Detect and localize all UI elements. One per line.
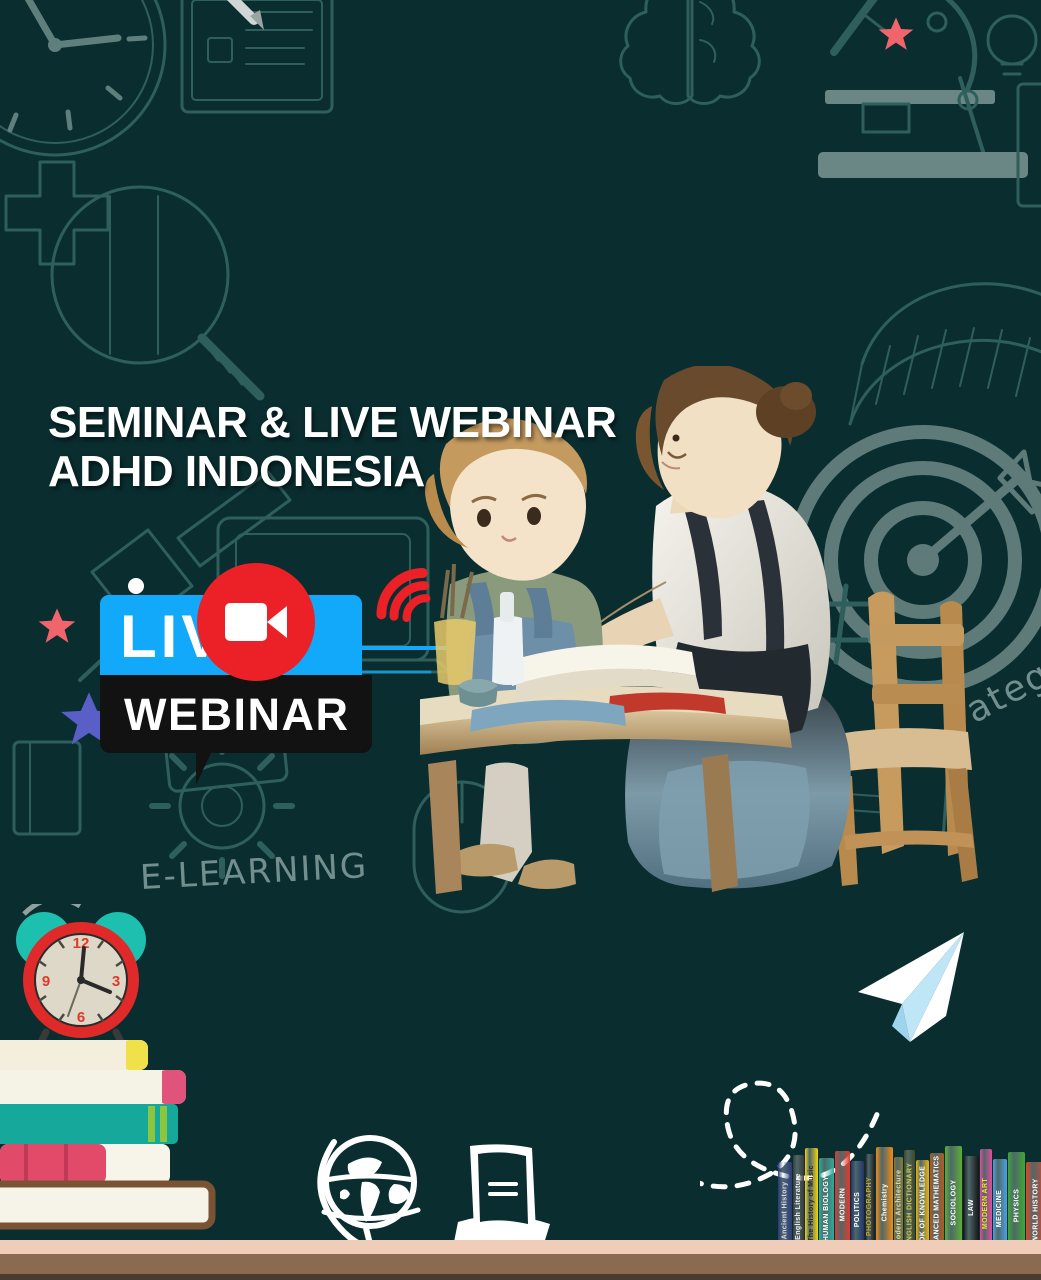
video-camera-icon	[225, 603, 287, 641]
svg-text:9: 9	[42, 973, 50, 990]
book-spine-title: Chemistry	[881, 1184, 888, 1222]
star-coral-left-icon	[38, 607, 76, 645]
doodle-bulb-icon	[988, 16, 1036, 74]
webinar-label: WEBINAR	[100, 692, 349, 737]
stack-book-yellow	[0, 1040, 148, 1070]
doodle-clipboard-icon	[182, 0, 332, 112]
alarm-clock-icon: 12 3 6 9	[6, 904, 156, 1054]
shelf-shadow	[0, 1274, 1041, 1280]
shelf-surface	[0, 1240, 1041, 1254]
doodle-microscope-icon	[818, 0, 1028, 178]
book-spine-title: LAW	[968, 1199, 975, 1216]
book-spine-title: MODERN	[839, 1188, 846, 1222]
book-spine-title: PHOTOGRAPHY	[867, 1176, 874, 1235]
book-stack-illustration	[0, 1040, 256, 1255]
stack-book-teal	[0, 1104, 178, 1144]
paper-plane-icon	[840, 930, 970, 1045]
stack-book-pink	[0, 1070, 186, 1104]
page-title: SEMINAR & LIVE WEBINAR ADHD INDONESIA	[48, 398, 688, 497]
doodle-magnifier-icon	[52, 187, 260, 396]
doodle-pencil-icon	[206, 0, 264, 30]
book-spine-title: The History of Music	[808, 1165, 815, 1242]
stack-book-brown	[0, 1184, 212, 1226]
book-spine-title: MEDICINE	[997, 1190, 1004, 1227]
svg-text:12: 12	[73, 935, 90, 952]
book-spine-title: WORLD HISTORY	[1033, 1178, 1040, 1242]
book-spine-title: SOCIOLOGY	[950, 1179, 957, 1225]
doodle-plus-icon	[6, 162, 108, 264]
poster-canvas: E-LEARNING rateg	[0, 0, 1041, 1280]
star-coral-top-icon	[878, 16, 914, 52]
doodle-book-icon	[14, 742, 80, 834]
shelf-edge	[0, 1254, 1041, 1274]
book-spine-title: Modern Architecture	[895, 1170, 902, 1246]
webinar-bubble: WEBINAR	[100, 675, 372, 753]
record-button[interactable]	[197, 563, 315, 681]
headline-line-2: ADHD INDONESIA	[48, 447, 688, 496]
book-spine-title: MODERN ART	[983, 1178, 990, 1229]
globe-icon	[306, 1126, 446, 1258]
svg-text:6: 6	[77, 1009, 85, 1026]
book-spine-title: POLITICS	[854, 1192, 861, 1227]
book-spine-title: ENGLISH DICTIONARY	[906, 1162, 913, 1246]
svg-text:3: 3	[112, 973, 120, 990]
stack-book-red	[0, 1144, 170, 1184]
book-spine-title: PHYSICS	[1013, 1188, 1020, 1222]
chalk-text-elearning: E-LEARNING	[139, 846, 369, 898]
book-spine-title: Ancient History	[782, 1181, 789, 1239]
book-spine-title: HUMAN BIOLOGY	[823, 1175, 830, 1240]
headline-line-1: SEMINAR & LIVE WEBINAR	[48, 398, 688, 447]
doodle-document-icon	[1018, 84, 1041, 206]
book-spine-title: English Literature	[795, 1173, 802, 1240]
doodle-clock-icon	[0, 0, 165, 155]
doodle-brain-icon	[621, 0, 760, 104]
